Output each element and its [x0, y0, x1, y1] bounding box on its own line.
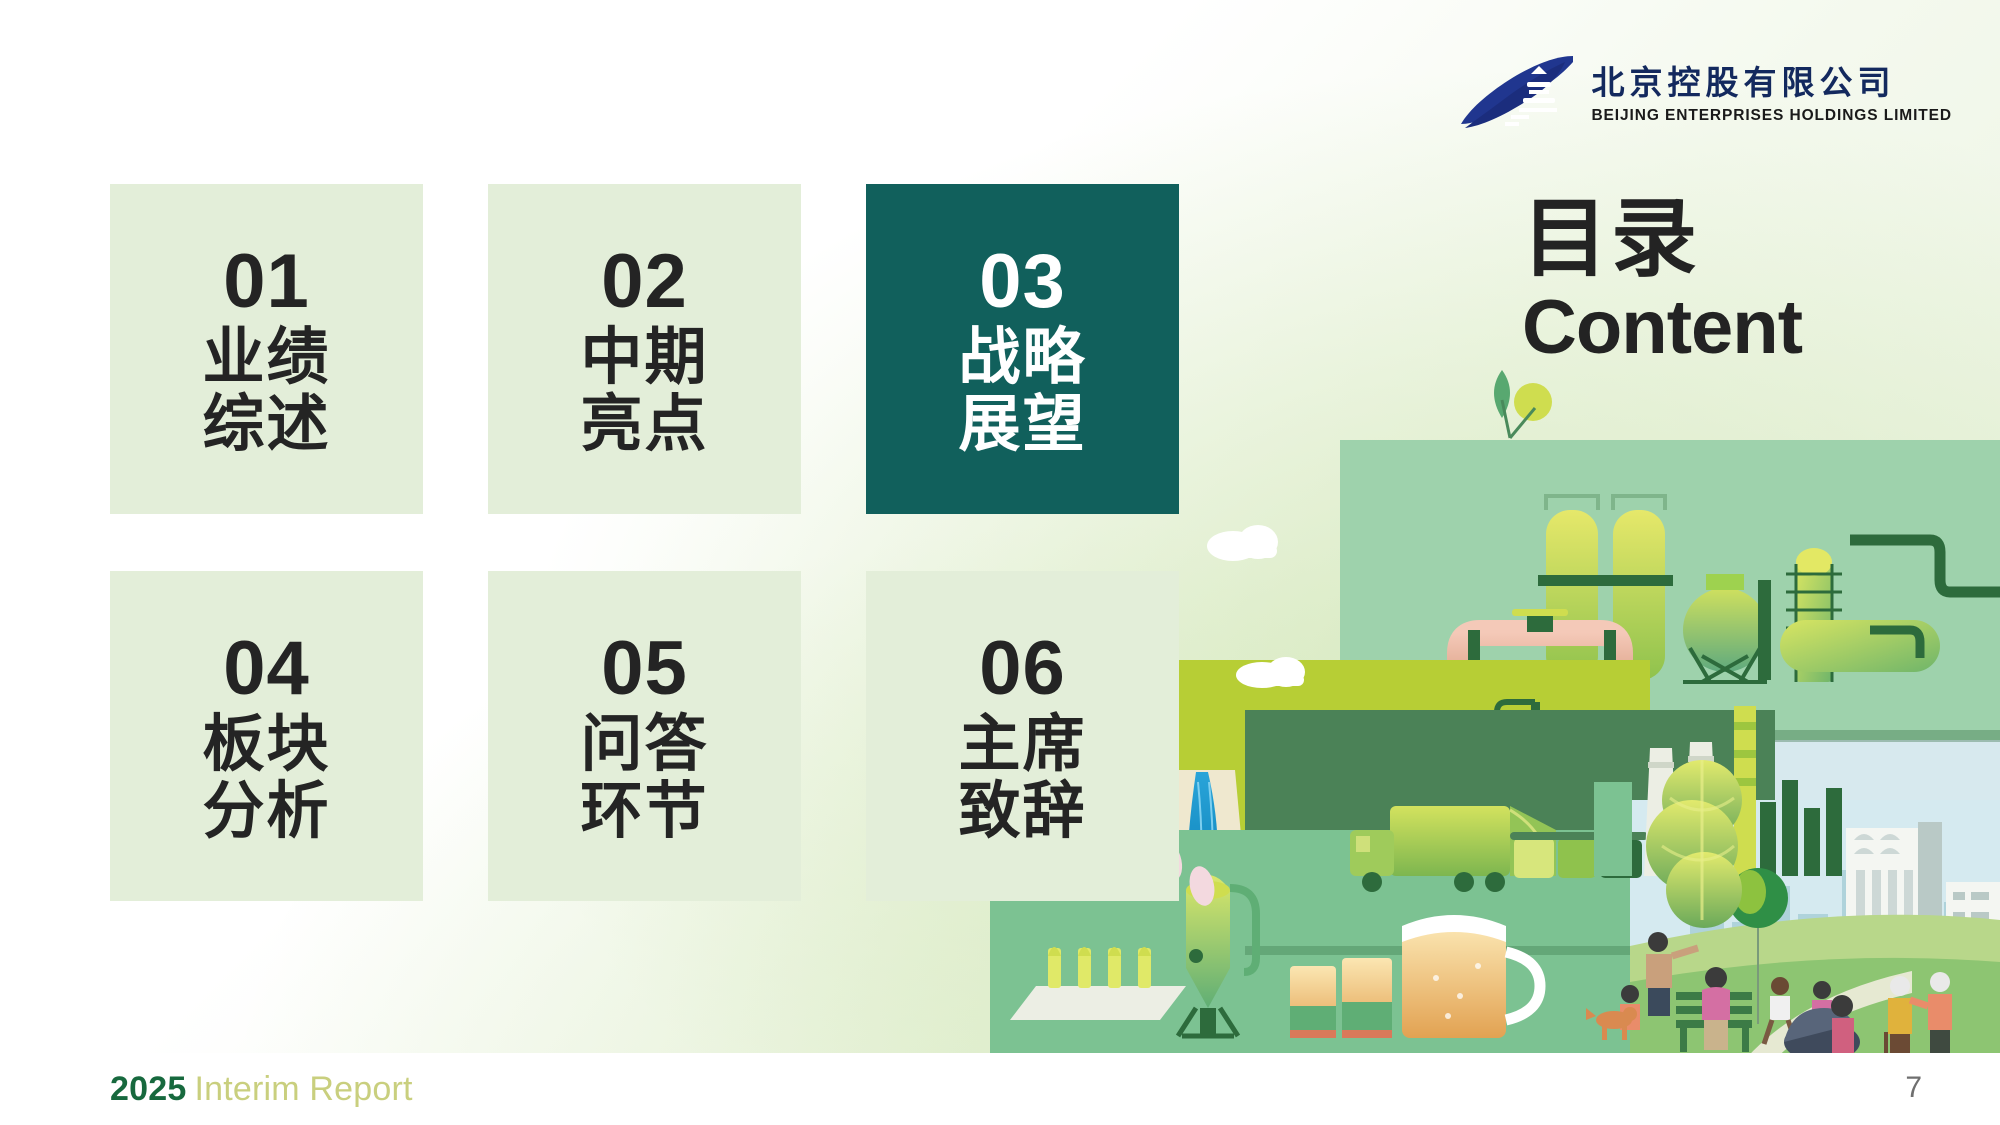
agenda-tile-04[interactable]: 04 板块 分析	[110, 571, 423, 901]
agenda-tile-03[interactable]: 03 战略 展望	[866, 184, 1179, 514]
agenda-label-line1: 问答	[580, 711, 708, 778]
agenda-label-line2: 亮点	[580, 391, 708, 458]
agenda-label-line1: 业绩	[202, 324, 330, 391]
footer-label: Interim Report	[194, 1070, 412, 1108]
page-title: 目录 Content	[1522, 196, 1802, 368]
company-logo: 北京控股有限公司 BEIJING ENTERPRISES HOLDINGS LI…	[1459, 52, 1952, 138]
logo-name-en: BEIJING ENTERPRISES HOLDINGS LIMITED	[1591, 108, 1952, 124]
agenda-row-1: 01 业绩 综述 02 中期 亮点 03 战略 展望	[110, 184, 1179, 514]
agenda-label-line2: 综述	[202, 391, 330, 458]
agenda-label-line2: 环节	[580, 778, 708, 845]
agenda-label-line2: 致辞	[958, 778, 1086, 845]
agenda-tile-02[interactable]: 02 中期 亮点	[488, 184, 801, 514]
agenda-label-line1: 板块	[202, 711, 330, 778]
agenda-label-line2: 分析	[202, 778, 330, 845]
agenda-number: 05	[601, 633, 688, 705]
agenda-tiles: 01 业绩 综述 02 中期 亮点 03 战略 展望 04 板块 分析 05	[110, 184, 1179, 901]
page-title-en: Content	[1522, 288, 1802, 368]
agenda-label-line2: 展望	[958, 391, 1086, 458]
agenda-number: 03	[979, 246, 1066, 318]
agenda-number: 04	[223, 633, 310, 705]
footer-year: 2025	[110, 1070, 186, 1108]
footer-report-label: 2025Interim Report	[110, 1070, 413, 1109]
page-title-cn: 目录	[1522, 196, 1802, 284]
agenda-number: 01	[223, 246, 310, 318]
agenda-tile-06[interactable]: 06 主席 致辞	[866, 571, 1179, 901]
agenda-tile-05[interactable]: 05 问答 环节	[488, 571, 801, 901]
beijing-enterprises-bird-icon	[1459, 52, 1577, 138]
page-number: 7	[1905, 1071, 1922, 1105]
agenda-label-line1: 战略	[958, 324, 1086, 391]
agenda-label-line1: 主席	[958, 711, 1086, 778]
agenda-number: 06	[979, 633, 1066, 705]
agenda-row-2: 04 板块 分析 05 问答 环节 06 主席 致辞	[110, 571, 1179, 901]
agenda-label-line1: 中期	[580, 324, 708, 391]
slide-canvas: 北京控股有限公司 BEIJING ENTERPRISES HOLDINGS LI…	[0, 0, 2000, 1125]
agenda-tile-01[interactable]: 01 业绩 综述	[110, 184, 423, 514]
logo-name-cn: 北京控股有限公司	[1591, 66, 1952, 99]
agenda-number: 02	[601, 246, 688, 318]
